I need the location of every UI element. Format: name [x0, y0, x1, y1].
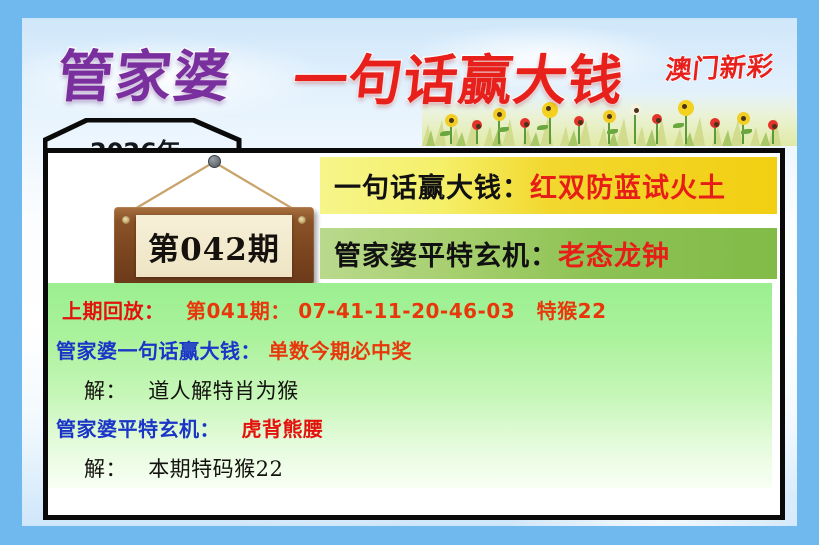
panel-row-answer-one-sentence: 解： 道人解特肖为猴: [84, 375, 299, 405]
panel-row-riddle-pingte: 管家婆平特玄机： 虎背熊腰: [56, 413, 323, 442]
answer-pingte-prefix: 解：: [84, 457, 127, 481]
issue-plaque: 第042期: [104, 155, 324, 285]
flower-icon: [518, 118, 532, 144]
last-draw-special: 特猴22: [537, 299, 607, 323]
panel-row-riddle-one-sentence: 管家婆一句话赢大钱： 单数今期必中奖: [56, 335, 412, 364]
panel-row-last-draw: 上期回放： 第041期： 07-41-11-20-46-03 特猴22: [62, 295, 607, 324]
riddle-one-sentence-value: 单数今期必中奖: [268, 339, 412, 363]
band-green-label: 管家婆平特玄机：: [334, 234, 558, 273]
band-green-value: 老态龙钟: [558, 234, 670, 273]
panel-row-answer-pingte: 解： 本期特码猴22: [84, 453, 283, 483]
riddle-pingte-value: 虎背熊腰: [241, 417, 323, 441]
flower-icon: [736, 112, 750, 144]
plaque-paper: 第042期: [136, 215, 292, 277]
last-draw-issue: 第041期：: [186, 299, 291, 323]
flower-icon: [650, 114, 664, 144]
plaque-board: 第042期: [114, 207, 314, 285]
answer-one-sentence-prefix: 解：: [84, 379, 127, 403]
answer-pingte-text: 本期特码猴22: [148, 457, 283, 481]
poster-title-main: 管家婆: [54, 32, 237, 113]
riddle-pingte-label: 管家婆平特玄机：: [56, 417, 220, 441]
flower-icon: [444, 114, 458, 144]
flower-icon: [678, 100, 694, 144]
band-yellow-label: 一句话赢大钱：: [334, 166, 530, 205]
flower-icon: [708, 118, 722, 144]
plaque-nail-icon: [208, 155, 221, 168]
flower-icon: [572, 116, 586, 144]
flower-icon: [470, 120, 484, 144]
issue-number-label: 第042期: [148, 224, 280, 269]
last-draw-numbers: 07-41-11-20-46-03: [298, 299, 515, 323]
poster-brand-label: 澳门新彩: [664, 46, 776, 87]
lottery-poster: 管家婆 一句话赢大钱 澳门新彩 2026年 第042期 一句话赢大钱： 红双防蓝…: [0, 0, 819, 545]
flower-icon: [766, 120, 780, 144]
riddle-one-sentence-label: 管家婆一句话赢大钱：: [56, 339, 261, 363]
headline-band-yellow: 一句话赢大钱： 红双防蓝试火土: [320, 157, 777, 214]
flower-icon: [602, 110, 616, 144]
content-panel: 上期回放： 第041期： 07-41-11-20-46-03 特猴22 管家婆一…: [48, 283, 772, 488]
headline-band-green: 管家婆平特玄机： 老态龙钟: [320, 228, 777, 279]
flower-icon: [628, 104, 642, 144]
band-yellow-value: 红双防蓝试火土: [530, 166, 726, 205]
answer-one-sentence-text: 道人解特肖为猴: [148, 379, 299, 403]
last-draw-label: 上期回放：: [62, 299, 165, 323]
poster-title-sub: 一句话赢大钱: [290, 36, 628, 115]
